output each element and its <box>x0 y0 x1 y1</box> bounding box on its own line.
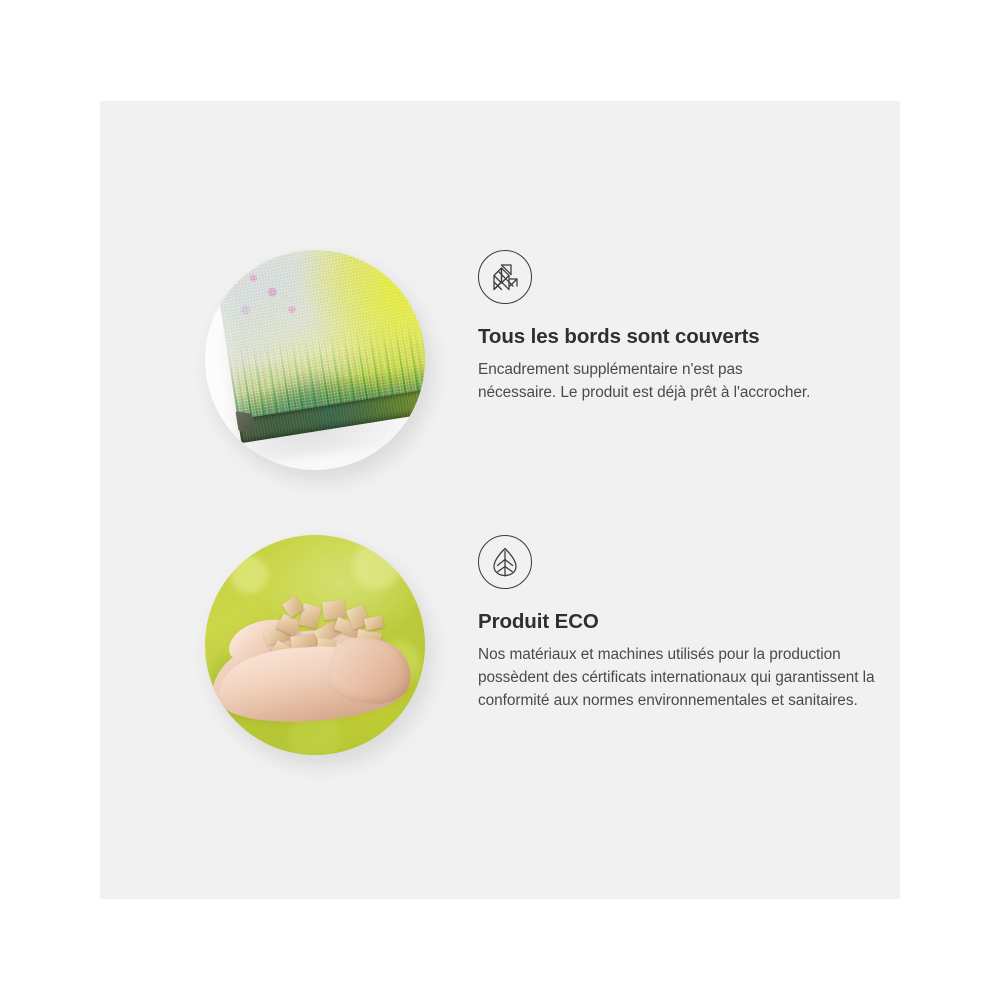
feature-text-eco: Produit ECO Nos matériaux et machines ut… <box>478 535 878 712</box>
canvas-corner-fold <box>235 411 255 433</box>
leaf-icon <box>478 535 532 589</box>
eco-wood-chips-photo <box>205 535 425 755</box>
canvas-print-photo <box>205 250 425 470</box>
canvas-photo-background <box>205 250 425 470</box>
feature-description: Encadrement supplémentaire n'est pas néc… <box>478 358 823 404</box>
feature-block-edges: Tous les bords sont couverts Encadrement… <box>100 250 900 495</box>
content-panel: Tous les bords sont couverts Encadrement… <box>100 101 900 899</box>
feature-title: Tous les bords sont couverts <box>478 326 878 349</box>
product-feature-infographic: Tous les bords sont couverts Encadrement… <box>0 0 1000 1000</box>
wrapped-canvas-edge-icon <box>478 250 532 304</box>
feature-text-edges: Tous les bords sont couverts Encadrement… <box>478 250 878 404</box>
feature-description: Nos matériaux et machines utilisés pour … <box>478 643 878 712</box>
feature-title: Produit ECO <box>478 611 878 634</box>
canvas-block <box>212 250 425 453</box>
feature-block-eco: Produit ECO Nos matériaux et machines ut… <box>100 535 900 805</box>
eco-photo-background <box>205 535 425 755</box>
